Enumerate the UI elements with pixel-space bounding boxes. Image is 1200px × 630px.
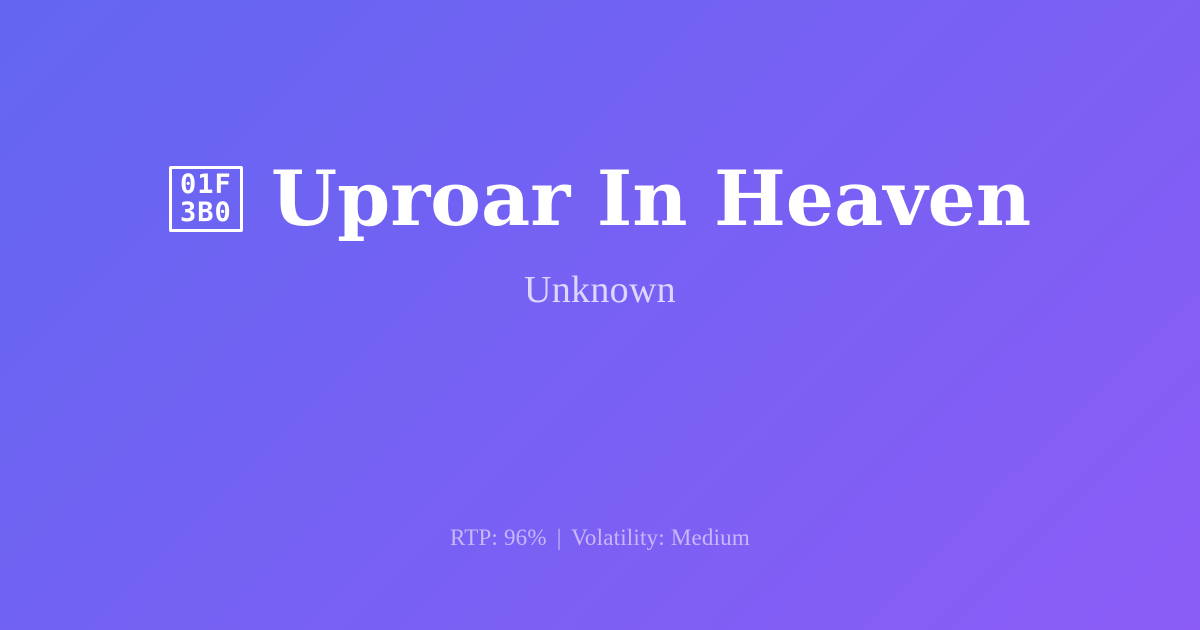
slot-machine-icon: 01F 3B0 (169, 166, 243, 232)
volatility-value: Medium (671, 525, 750, 550)
provider-name: Unknown (524, 271, 676, 309)
rtp-label: RTP: (450, 525, 498, 550)
codepoint-bottom: 3B0 (180, 199, 232, 227)
codepoint-top: 01F (180, 171, 232, 199)
title-line: 01F 3B0 Uproar In Heaven (169, 161, 1031, 237)
hero-block: 01F 3B0 Uproar In Heaven Unknown (0, 0, 1200, 470)
game-meta-footer: RTP: 96% | Volatility: Medium (0, 524, 1200, 552)
page-title: Uproar In Heaven (271, 161, 1031, 237)
game-og-card: 01F 3B0 Uproar In Heaven Unknown RTP: 96… (0, 0, 1200, 630)
meta-separator: | (553, 525, 566, 550)
rtp-value: 96% (504, 525, 547, 550)
volatility-label: Volatility: (571, 525, 665, 550)
